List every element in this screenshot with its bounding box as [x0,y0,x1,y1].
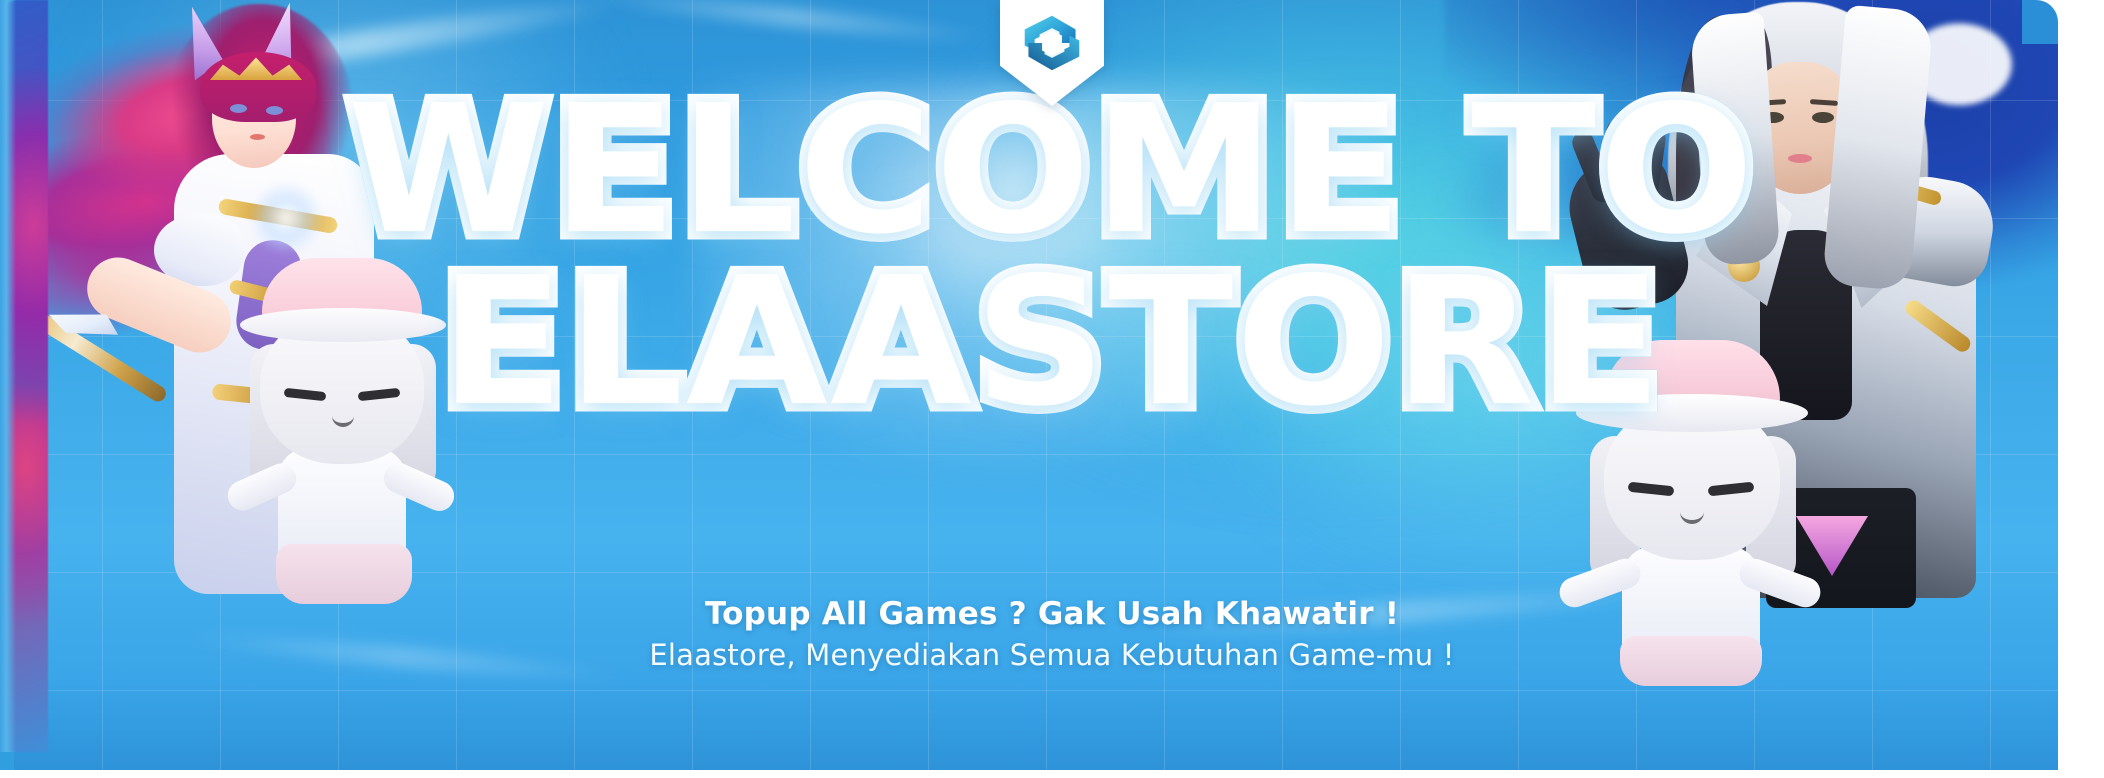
hero-tagline-block: Topup All Games ? Gak Usah Khawatir ! El… [0,596,2104,672]
brand-logo-badge[interactable] [1000,0,1104,106]
hero-title-line-1: WELCOME TO [0,90,2104,253]
tagline-primary: Topup All Games ? Gak Usah Khawatir ! [0,596,2104,632]
carousel-right-rounded-corner [2022,0,2058,44]
hero-banner[interactable]: WELCOME TO ELAASTORE Topup All Games ? G… [0,0,2104,778]
hero-title-line-2: ELAASTORE [0,262,2104,425]
tagline-secondary: Elaastore, Menyediakan Semua Kebutuhan G… [0,638,2104,672]
elaastore-hexagon-monogram-icon [1021,12,1083,74]
banner-bottom-edge [0,770,2104,778]
hero-title-block: WELCOME TO ELAASTORE [0,102,2104,412]
